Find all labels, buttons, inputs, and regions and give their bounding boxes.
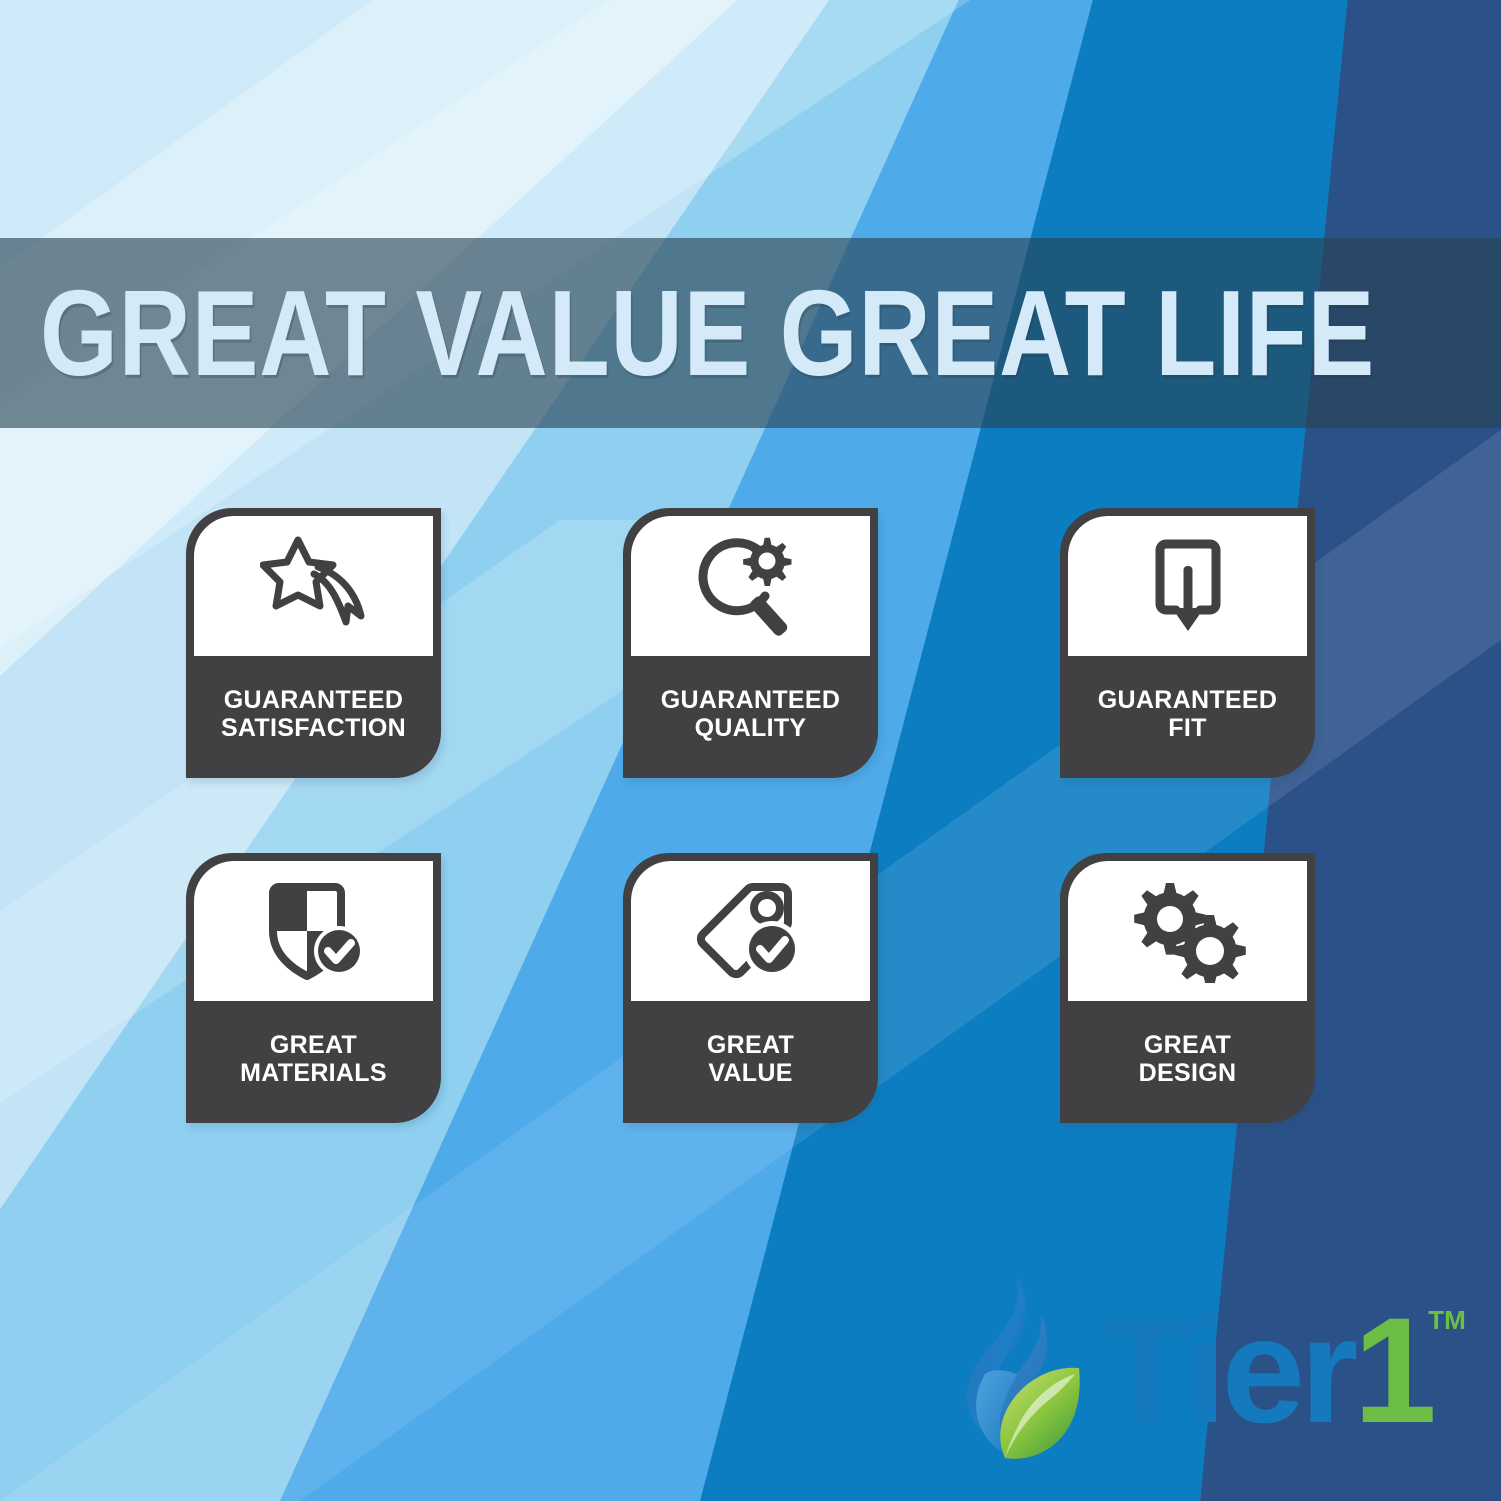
card-label-line1: GUARANTEED xyxy=(1098,686,1277,714)
card-label: GREAT MATERIALS xyxy=(186,1001,441,1123)
card-label: GUARANTEED SATISFACTION xyxy=(186,656,441,778)
magnifier-gear-icon xyxy=(695,534,807,638)
logo-name-primary: Tier xyxy=(1101,1295,1353,1445)
shooting-star-icon xyxy=(260,534,368,638)
card-icon-area xyxy=(194,516,433,656)
feature-card-great-materials[interactable]: GREAT MATERIALS xyxy=(186,853,441,1123)
card-label-line2: VALUE xyxy=(708,1059,792,1087)
feature-card-guaranteed-fit[interactable]: GUARANTEED FIT xyxy=(1060,508,1315,778)
card-icon-area xyxy=(1068,516,1307,656)
card-label-line1: GUARANTEED xyxy=(224,686,403,714)
card-label-line1: GREAT xyxy=(1144,1031,1231,1059)
shield-check-icon xyxy=(259,879,369,983)
card-icon-area xyxy=(631,516,870,656)
card-label-line2: FIT xyxy=(1168,714,1206,742)
card-label-line1: GUARANTEED xyxy=(661,686,840,714)
feature-card-guaranteed-quality[interactable]: GUARANTEED QUALITY xyxy=(623,508,878,778)
card-icon-area xyxy=(631,861,870,1001)
trademark-symbol: TM xyxy=(1428,1305,1466,1336)
card-label-line1: GREAT xyxy=(270,1031,357,1059)
feature-card-great-design[interactable]: GREAT DESIGN xyxy=(1060,853,1315,1123)
card-icon-area xyxy=(1068,861,1307,1001)
logo-wordmark: Tier1 TM xyxy=(1101,1295,1432,1445)
logo-name-accent: 1 xyxy=(1353,1295,1431,1445)
price-tag-check-icon xyxy=(693,879,809,983)
gears-icon xyxy=(1130,879,1246,983)
card-label: GUARANTEED FIT xyxy=(1060,656,1315,778)
card-label-line1: GREAT xyxy=(707,1031,794,1059)
feature-card-great-value[interactable]: GREAT VALUE xyxy=(623,853,878,1123)
card-label-line2: SATISFACTION xyxy=(221,714,406,742)
insert-down-arrow-icon xyxy=(1138,534,1238,638)
water-drop-leaf-icon xyxy=(955,1270,1085,1470)
card-label: GUARANTEED QUALITY xyxy=(623,656,878,778)
card-label: GREAT DESIGN xyxy=(1060,1001,1315,1123)
card-label-line2: QUALITY xyxy=(695,714,807,742)
card-label-line2: MATERIALS xyxy=(240,1059,387,1087)
feature-card-guaranteed-satisfaction[interactable]: GUARANTEED SATISFACTION xyxy=(186,508,441,778)
tier1-logo[interactable]: Tier1 TM xyxy=(955,1262,1475,1477)
banner-title: GREAT VALUE GREAT LIFE xyxy=(40,272,1375,394)
headline-banner: GREAT VALUE GREAT LIFE xyxy=(0,238,1501,428)
card-icon-area xyxy=(194,861,433,1001)
card-label-line2: DESIGN xyxy=(1139,1059,1237,1087)
card-label: GREAT VALUE xyxy=(623,1001,878,1123)
promo-graphic: GREAT VALUE GREAT LIFE GUARANTEED SATISF… xyxy=(0,0,1501,1501)
feature-card-grid: GUARANTEED SATISFACTION GUARANTEED QUALI… xyxy=(186,508,1341,1123)
